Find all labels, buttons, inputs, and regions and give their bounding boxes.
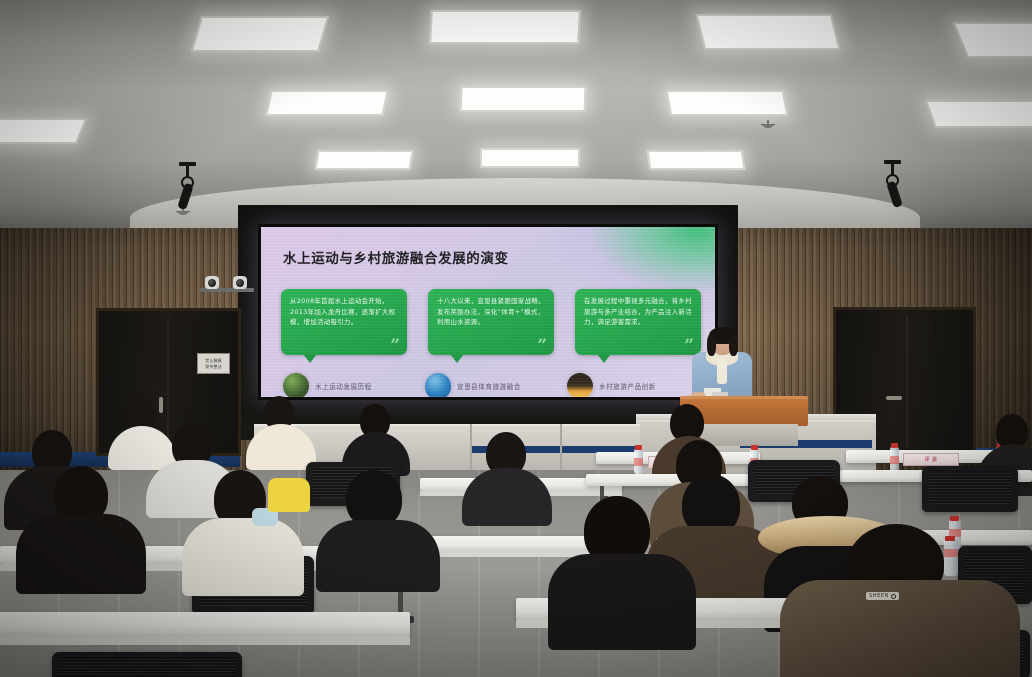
name-plate: 评 委 [903, 453, 959, 466]
ceiling-light-panel [480, 148, 580, 168]
desk-front [0, 612, 410, 636]
ceiling-light-panel [647, 150, 746, 170]
presenter-scarf [717, 358, 727, 384]
ceiling-light-panel [925, 100, 1032, 128]
door-sign-line1: 禁止触摸 [205, 358, 222, 363]
water-bottle[interactable] [944, 540, 958, 576]
audience-shoulders [182, 518, 304, 596]
ptz-camera-icon [233, 276, 247, 289]
ceiling-light-panel [429, 10, 581, 44]
slide-legend-label-2: 宣恩县体育旅游融合 [457, 381, 521, 391]
projection-screen: 水上运动与乡村旅游融合发展的演变 从2008年首届水上运动会开始，2013年加入… [258, 224, 718, 400]
brand-ring-icon [891, 594, 896, 599]
card-pointer-tail [450, 354, 464, 363]
ceiling-light-panel [953, 22, 1032, 58]
stage-cabinet-seam [560, 424, 562, 470]
slide-card-3-wrap: 在发展过程中重视多元融合，将乡村旅游与多产业结合，为产品注入新活力，满足游客需求… [575, 289, 701, 355]
ceiling-light-panel [696, 14, 841, 50]
jacket-brand-tag: SHEEN [866, 592, 899, 600]
slide-legend-label-1: 水上运动发展历程 [315, 381, 372, 391]
chair-front[interactable] [52, 652, 242, 677]
slide-legend-label-3: 乡村旅游产品创新 [599, 381, 656, 391]
card-pointer-tail [303, 354, 317, 363]
slide-legend-item-1: 水上运动发展历程 [283, 373, 425, 397]
sunset-landscape-thumb-icon [567, 373, 593, 397]
door-left[interactable]: 禁止触摸 保持整洁 [96, 308, 241, 456]
audience-shoulders [316, 520, 440, 592]
audience-shoulders [16, 514, 146, 594]
door-sign: 禁止触摸 保持整洁 [197, 353, 230, 374]
slide-card-1: 从2008年首届水上运动会开始，2013年加入龙舟比赛，逐渐扩大规模，增加活动吸… [281, 289, 407, 355]
slide-card-2-text: 十八大以来，宣恩县紧跟国家战略，发布奖励办法，深化“体育+”模式，利用山水资源。 [437, 296, 546, 328]
door-handle-icon[interactable] [159, 397, 163, 413]
forest-photo-thumb-icon [283, 373, 309, 397]
ptz-camera-icon [205, 276, 219, 289]
door-handle-icon[interactable] [886, 396, 902, 400]
slide-card-row: 从2008年首届水上运动会开始，2013年加入龙舟比赛，逐渐扩大规模，增加活动吸… [281, 289, 701, 355]
name-plate-text: 评 委 [925, 456, 938, 463]
slide-card-2-wrap: 十八大以来，宣恩县紧跟国家战略，发布奖励办法，深化“体育+”模式，利用山水资源。… [428, 289, 554, 355]
quote-mark-icon: ” [537, 339, 547, 353]
ceiling-light-panel [314, 150, 413, 170]
ceiling-light-panel [460, 86, 587, 112]
slide-legend-row: 水上运动发展历程 宣恩县体育旅游融合 乡村旅游产品创新 [283, 373, 713, 397]
chair[interactable] [922, 466, 1018, 512]
card-pointer-tail [597, 354, 611, 363]
jacket-brand-text: SHEEN [869, 593, 889, 599]
door-sign-line2: 保持整洁 [205, 364, 222, 369]
slide-card-2: 十八大以来，宣恩县紧跟国家战略，发布奖励办法，深化“体育+”模式，利用山水资源。… [428, 289, 554, 355]
ceiling-light-panel [191, 16, 329, 52]
ceiling-light-panel [0, 118, 87, 144]
quote-mark-icon: ” [390, 339, 400, 353]
ceiling-light-panel [265, 90, 389, 116]
presenter-hair-side [707, 334, 716, 356]
audience-yellow-hoodie [268, 478, 310, 512]
slide-card-1-text: 从2008年首届水上运动会开始，2013年加入龙舟比赛，逐渐扩大规模，增加活动吸… [290, 296, 399, 328]
ceiling-light-panel [666, 90, 789, 116]
slide-title: 水上运动与乡村旅游融合发展的演变 [283, 247, 509, 267]
presenter-hair-side [729, 334, 738, 356]
water-bottle[interactable] [890, 447, 899, 472]
audience-shoulders [780, 580, 1020, 677]
slide-card-3-text: 在发展过程中重视多元融合，将乡村旅游与多产业结合，为产品注入新活力，满足游客需求… [584, 296, 693, 328]
presentation-slide: 水上运动与乡村旅游融合发展的演变 从2008年首届水上运动会开始，2013年加入… [261, 227, 715, 397]
ceiling [0, 0, 1032, 232]
stage-cabinet-seam [470, 424, 472, 470]
slide-legend-item-2: 宣恩县体育旅游融合 [425, 373, 567, 397]
slide-card-1-wrap: 从2008年首届水上运动会开始，2013年加入龙舟比赛，逐渐扩大规模，增加活动吸… [281, 289, 407, 355]
lecture-hall-scene: 禁止触摸 保持整洁 水上运动与乡村旅游融合发展的演变 从2008年首届水上运动会… [0, 0, 1032, 677]
water-bottle[interactable] [634, 449, 643, 474]
audience-shoulders [548, 554, 696, 650]
sprinkler-head-icon [760, 120, 776, 128]
slide-legend-item-3: 乡村旅游产品创新 [567, 373, 709, 397]
blue-globe-thumb-icon [425, 373, 451, 397]
desk-apron [0, 636, 410, 645]
slide-card-3: 在发展过程中重视多元融合，将乡村旅游与多产业结合，为产品注入新活力，满足游客需求… [575, 289, 701, 355]
